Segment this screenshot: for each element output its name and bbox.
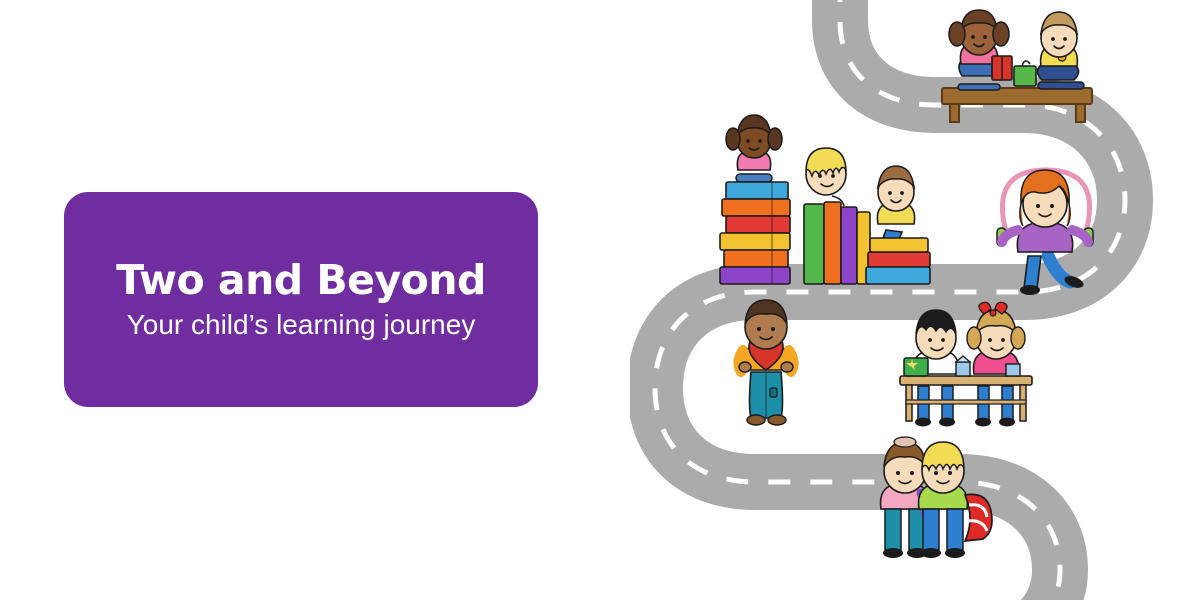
red-backpack [965,494,992,541]
green-bag [1014,61,1036,86]
scene-desk [900,302,1032,426]
page-subtitle: Your child’s learning journey [127,309,476,341]
boy-sitting-on-books [866,166,930,284]
winding-road-illustration [630,0,1200,600]
blonde-boy-behind-books [806,148,846,206]
book-stack-tall [720,182,790,284]
page-title: Two and Beyond [116,258,486,303]
boy-with-heart [738,300,793,425]
book-stack-upright [804,202,870,284]
girl-on-books [726,115,782,182]
scene-heart-boy [738,300,793,425]
banner-root: Two and Beyond Your child’s learning jou… [0,0,1200,600]
boy-in-yellow [1014,12,1084,89]
red-book [992,56,1012,80]
scene-book-stack [720,115,930,284]
boy-in-green [919,442,968,558]
title-card: Two and Beyond Your child’s learning jou… [64,192,538,407]
green-lunchbox [904,358,928,376]
